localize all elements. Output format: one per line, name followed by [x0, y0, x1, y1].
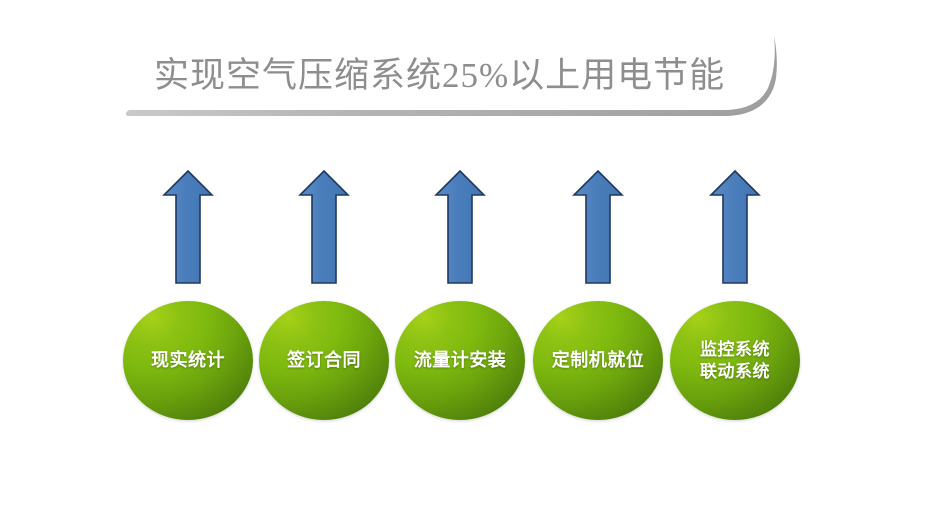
- slide-canvas: 实现空气压缩系统25%以上用电节能 现实统计: [0, 0, 945, 529]
- arrow-up-icon: [434, 168, 486, 286]
- arrow-up-icon: [572, 168, 624, 286]
- arrow-up-icon: [298, 168, 350, 286]
- process-flow: 现实统计 签订合同: [0, 0, 945, 529]
- step-circle-3[interactable]: 流量计安装: [395, 301, 525, 420]
- step-circle-4[interactable]: 定制机就位: [533, 301, 663, 420]
- step-circle-2[interactable]: 签订合同: [259, 301, 389, 420]
- flow-step-1[interactable]: 现实统计: [120, 168, 256, 424]
- arrow-up-icon: [709, 168, 761, 286]
- step-label-2: 签订合同: [281, 349, 367, 372]
- step-label-5: 监控系统 联动系统: [694, 339, 776, 382]
- step-label-1: 现实统计: [145, 349, 231, 372]
- flow-step-4[interactable]: 定制机就位: [530, 168, 666, 424]
- flow-step-3[interactable]: 流量计安装: [392, 168, 528, 424]
- step-label-3: 流量计安装: [408, 349, 513, 372]
- step-label-4: 定制机就位: [546, 349, 651, 372]
- flow-step-2[interactable]: 签订合同: [256, 168, 392, 424]
- step-circle-1[interactable]: 现实统计: [123, 301, 253, 420]
- flow-step-5[interactable]: 监控系统 联动系统: [667, 168, 803, 424]
- arrow-up-icon: [162, 168, 214, 286]
- step-circle-5[interactable]: 监控系统 联动系统: [670, 301, 800, 420]
